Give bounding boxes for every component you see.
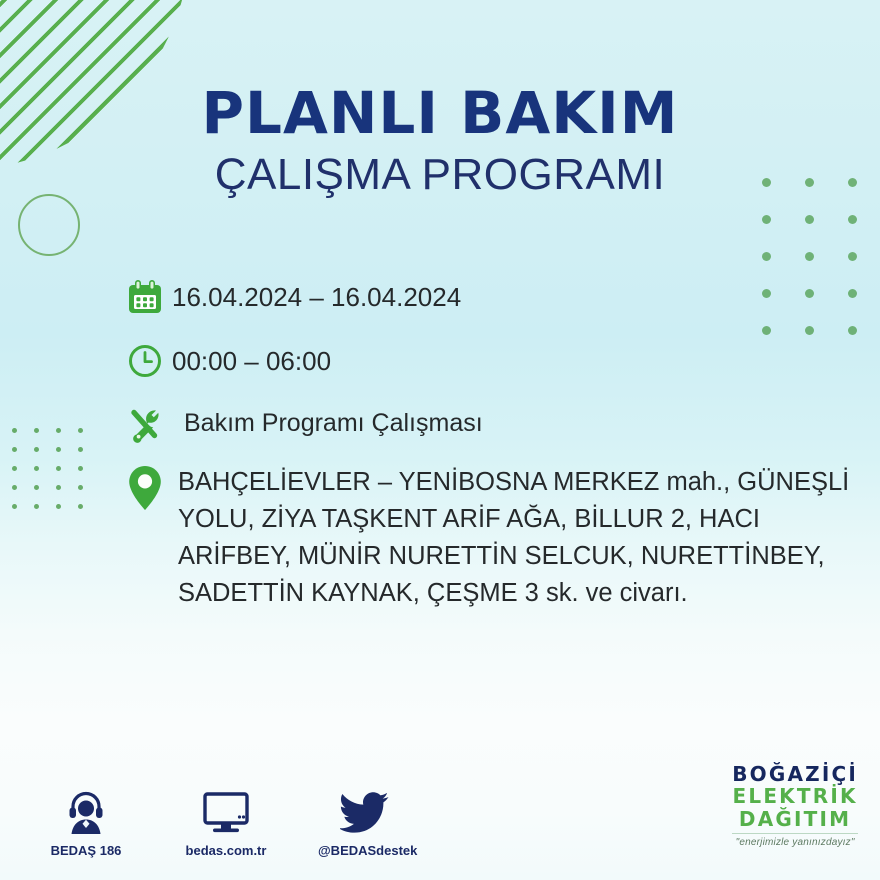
company-logo: BOĞAZİÇİ ELEKTRİK DAĞITIM "enerjimizle y… xyxy=(732,763,858,848)
contact-list: BEDAŞ 186 bedas.com.tr xyxy=(38,785,414,858)
page-subtitle: ÇALIŞMA PROGRAMI xyxy=(0,152,880,198)
contact-phone[interactable]: BEDAŞ 186 xyxy=(38,785,134,858)
calendar-icon xyxy=(118,272,172,322)
detail-row-time: 00:00 – 06:00 xyxy=(118,336,858,386)
maintenance-time-range: 00:00 – 06:00 xyxy=(172,336,331,374)
logo-line-bogazici: BOĞAZİÇİ xyxy=(732,763,858,785)
page-title: PLANLI BAKIM xyxy=(0,84,880,142)
circle-outline-decoration xyxy=(18,194,80,256)
logo-tagline: "enerjimizle yanınızdayız" xyxy=(732,833,858,848)
maintenance-location-text: BAHÇELİEVLER – YENİBOSNA MERKEZ mah., GÜ… xyxy=(172,460,852,612)
map-pin-icon xyxy=(118,460,172,510)
detail-row-date: 16.04.2024 – 16.04.2024 xyxy=(118,272,858,322)
poster-header: PLANLI BAKIM ÇALIŞMA PROGRAMI xyxy=(0,84,880,198)
contact-website-label: bedas.com.tr xyxy=(178,843,274,858)
detail-row-work-type: Bakım Programı Çalışması xyxy=(118,400,858,450)
contact-website[interactable]: bedas.com.tr xyxy=(178,785,274,858)
maintenance-date-range: 16.04.2024 – 16.04.2024 xyxy=(172,272,461,310)
maintenance-details: 16.04.2024 – 16.04.2024 00:00 – 06:00 xyxy=(118,272,858,612)
tools-icon xyxy=(118,400,172,450)
contact-twitter-label: @BEDASdestek xyxy=(318,843,414,858)
contact-twitter[interactable]: @BEDASdestek xyxy=(318,785,414,858)
logo-line-dagitim: DAĞITIM xyxy=(732,808,858,830)
planned-maintenance-poster: PLANLI BAKIM ÇALIŞMA PROGRAMI xyxy=(0,0,880,880)
clock-icon xyxy=(118,336,172,386)
headset-support-icon xyxy=(38,785,134,835)
dot-grid-left-decoration xyxy=(12,428,100,523)
contact-phone-label: BEDAŞ 186 xyxy=(38,843,134,858)
logo-line-elektrik: ELEKTRİK xyxy=(732,785,858,807)
maintenance-work-type: Bakım Programı Çalışması xyxy=(172,400,483,436)
twitter-bird-icon xyxy=(318,785,414,835)
monitor-icon xyxy=(178,785,274,835)
poster-footer: BEDAŞ 186 bedas.com.tr xyxy=(0,768,880,864)
detail-row-location: BAHÇELİEVLER – YENİBOSNA MERKEZ mah., GÜ… xyxy=(118,460,858,612)
